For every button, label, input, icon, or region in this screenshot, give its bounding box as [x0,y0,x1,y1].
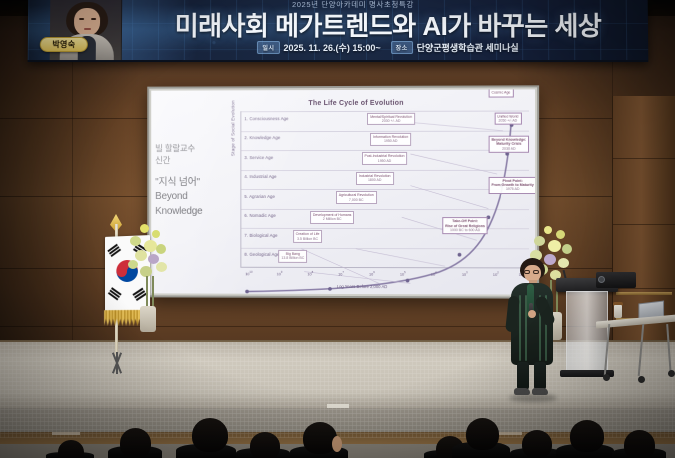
table-caster [668,370,675,377]
audience-member [192,418,228,452]
caption-line-3: "지식 넘어" [155,176,234,190]
chart-milestone-box: Pivot Point: From Growth to Maturity 197… [488,176,535,193]
chart-milestone-box: Cosmic Age [488,89,513,97]
eyeglasses-icon [524,270,541,274]
speaker-nametag: 박영숙 [40,37,88,52]
banner-place: 단양군평생학습관 세미나실 [417,41,519,54]
speaker-presenter [503,258,561,398]
slide-caption: 빌 할랄교수 신간 "지식 넘어" Beyond Knowledge [155,142,234,219]
chart-y-axis-label: Stage of Social Evolution [230,100,235,156]
projection-screen: 빌 할랄교수 신간 "지식 넘어" Beyond Knowledge The L… [147,85,539,298]
audience-member [58,440,84,458]
audience-member [303,422,337,454]
place-chip: 장소 [391,41,413,54]
audience-member [466,418,499,450]
date-chip: 일시 [257,41,279,54]
speaker-shoe [532,388,548,395]
lecture-hall-scene: 박영숙 2025년 단양아카데미 명사초청특강 미래사회 메가트렌드와 AI가 … [0,0,675,458]
banner-title: 미래사회 메가트렌드와 AI가 바꾸는 세상 [128,6,648,43]
chart-x-axis-ticks: 1010 109 108 107 106 105 104 103 102 101 [240,270,529,281]
projected-slide: 빌 할랄교수 신간 "지식 넘어" Beyond Knowledge The L… [151,89,535,294]
caption-line-2: 신간 [155,154,234,166]
table-caster [603,374,610,381]
life-cycle-chart: The Life Cycle of Evolution Stage of Soc… [232,93,533,292]
chart-event-box: Agricultural Revolution 7,000 BC [336,191,377,204]
side-table [596,318,675,392]
speaker-leg [517,362,529,390]
chart-event-box: Mental/Spiritual Revolution 2030 +/- AD [367,112,415,125]
projector [596,272,636,288]
trigram-icon [107,244,121,258]
caption-line-5: Knowledge [155,205,234,219]
table-caster [638,376,645,383]
chart-milestone-box: Take-Off Point: Rise of Great Religions … [442,217,488,234]
chart-x-axis-label: Log Years Before 2,000 AD [232,284,492,290]
caption-line-4: Beyond [155,190,234,204]
trigram-icon [107,287,121,301]
chart-event-box: Information Revolution 1950 AD [370,133,411,146]
projector-lens [598,276,605,283]
audience-member [120,428,151,458]
flower-arrangement-left [126,222,172,334]
chart-milestone-box: Unified World 2050 +/- AD [494,112,521,125]
banner-meta: 일시 2025. 11. 26.(수) 15:00~ 장소 단양군평생학습관 세… [128,41,648,54]
banner-date: 2025. 11. 26.(수) 15:00~ [283,41,380,54]
chart-title: The Life Cycle of Evolution [232,100,480,108]
audience-member [522,430,552,458]
event-banner: 박영숙 2025년 단양아카데미 명사초청특강 미래사회 메가트렌드와 AI가 … [28,0,649,62]
floor-marker [52,432,80,435]
chart-event-box: Development of Humans 2 Million BC [310,211,354,224]
floor-marker [327,404,349,408]
chart-milestone-box: Beyond Knowledge: Maturity Crisis 2030 A… [488,136,529,153]
chart-event-box: Post-Industrial Revolution 1950 AD [362,152,408,165]
audience-hand [332,436,342,452]
caption-line-1: 빌 할랄교수 [155,142,234,154]
paper-cup [614,305,622,318]
wall-trim [616,292,672,295]
flag-stand [100,352,134,374]
chart-event-box: Creation of Life 3.5 Billion BC [293,230,323,243]
chart-plot-area: 1. Consciousness Age 2. Knowledge Age 3.… [240,111,529,269]
speaker-leg [534,362,546,390]
chart-event-box: Industrial Revolution 1800 AD [356,172,394,185]
chart-event-box: Big Bang 13.8 Billion BC [278,250,307,263]
audience-member [624,430,655,458]
speaker-hand [528,310,536,318]
speaker-shoe [514,388,530,395]
audience-member [250,432,280,458]
speaker-shadow [509,394,557,402]
audience-member [570,420,604,452]
